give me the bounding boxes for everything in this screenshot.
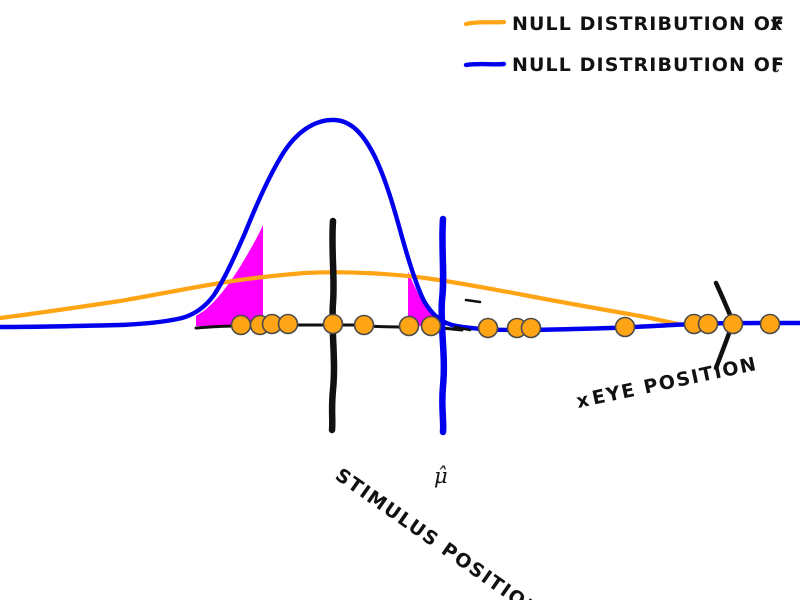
data-point (355, 316, 374, 335)
eye-position-label: EYE POSITION (590, 353, 759, 410)
orange-line-swatch (466, 22, 504, 24)
data-point (422, 317, 441, 336)
legend: NULL DISTRIBUTION OF x NULL DISTRIBUTION… (466, 13, 785, 77)
figure-canvas: NULL DISTRIBUTION OF x NULL DISTRIBUTION… (0, 0, 800, 600)
null-distribution-t-curve (0, 120, 800, 330)
data-point (699, 315, 718, 334)
data-point (522, 319, 541, 338)
data-point (400, 317, 419, 336)
blue-line-swatch (466, 64, 504, 65)
legend-label-x: NULL DISTRIBUTION OF (512, 13, 785, 35)
eye-position-variable: x (574, 389, 591, 413)
data-point (761, 315, 780, 334)
data-point (232, 316, 251, 335)
data-point (279, 315, 298, 334)
statistics-diagram: NULL DISTRIBUTION OF x NULL DISTRIBUTION… (0, 0, 800, 600)
shaded-tail-regions (150, 205, 460, 326)
data-point (479, 319, 498, 338)
left-tail-shaded-region (150, 205, 272, 326)
data-point (724, 315, 743, 334)
data-point (324, 315, 343, 334)
mu-hat-label: μ̂ (434, 464, 448, 488)
legend-variable-x: x (770, 13, 782, 35)
legend-variable-t: t (772, 53, 781, 77)
data-point (616, 318, 635, 337)
eye-position-label-group: x EYE POSITION (574, 353, 759, 413)
mu-hat-line (442, 219, 444, 432)
legend-label-t: NULL DISTRIBUTION OF (512, 54, 785, 76)
